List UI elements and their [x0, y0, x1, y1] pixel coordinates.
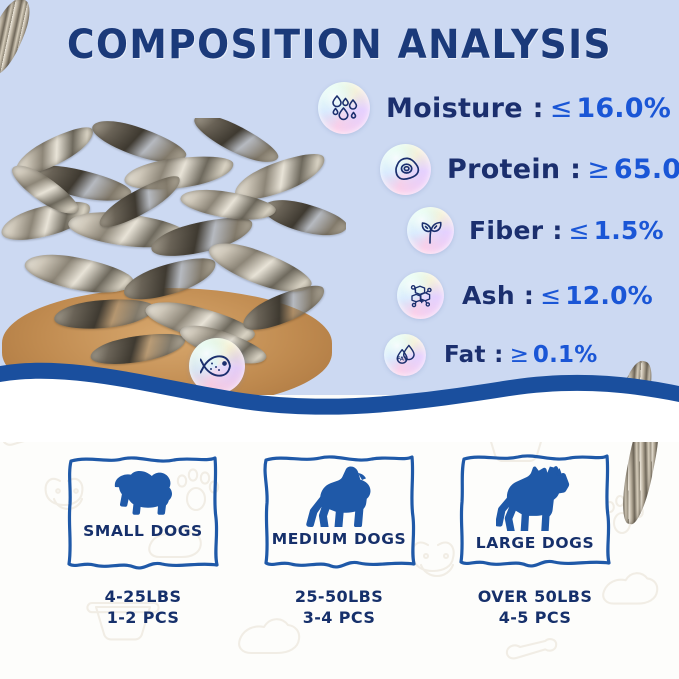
spec-operator-ash: ≤ [540, 281, 561, 310]
feeding-card-medium[interactable]: MEDIUM DOGS 25-50LBS 3-4 PCS [249, 452, 429, 628]
fish-icon [200, 351, 234, 381]
protein-egg-icon-bubble [380, 144, 431, 195]
card-title-medium: MEDIUM DOGS [272, 530, 407, 548]
infographic-root: COMPOSITION ANALYSIS Moist [0, 0, 679, 679]
spec-value-moisture: 16.0% [576, 93, 671, 124]
feeding-card-small[interactable]: SMALL DOGS 4-25LBS 1-2 PCS [53, 452, 233, 628]
water-drops-icon-bubble [318, 82, 370, 134]
page-title: COMPOSITION ANALYSIS [20, 22, 658, 68]
medium-dog-icon [302, 465, 376, 527]
card-weight-small: 4-25LBS [53, 586, 233, 607]
spec-row-moisture: Moisture : ≤ 16.0% [318, 82, 671, 134]
card-content-medium: MEDIUM DOGS [260, 452, 418, 572]
card-weight-medium: 25-50LBS [249, 586, 429, 607]
spec-row-ash: Ash : ≤ 12.0% [397, 272, 653, 319]
spec-value-ash: 12.0% [565, 281, 653, 310]
fat-drop-icon: FAT [393, 343, 418, 368]
card-amounts-medium: 25-50LBS 3-4 PCS [249, 586, 429, 628]
feeding-guide: SMALL DOGS 4-25LBS 1-2 PCS MEDIUM D [0, 452, 679, 667]
spec-row-protein: Protein : ≥ 65.0% [380, 144, 679, 195]
feeding-card-large[interactable]: LARGE DOGS OVER 50LBS 4-5 PCS [445, 452, 625, 628]
spec-label-ash: Ash : [462, 281, 534, 310]
card-pieces-small: 1-2 PCS [53, 607, 233, 628]
card-title-small: SMALL DOGS [83, 522, 203, 540]
spec-label-fiber: Fiber : [469, 216, 563, 245]
molecule-ash-icon [407, 282, 435, 310]
spec-operator-moisture: ≤ [550, 93, 573, 124]
spec-value-protein: 65.0% [614, 154, 679, 185]
spec-label-moisture: Moisture : [386, 93, 544, 124]
card-pieces-large: 4-5 PCS [445, 607, 625, 628]
leaf-fiber-icon-bubble [407, 207, 454, 254]
leaf-fiber-icon [417, 217, 445, 245]
large-dog-icon [496, 465, 574, 531]
spec-operator-fiber: ≤ [569, 216, 590, 245]
card-content-large: LARGE DOGS [456, 452, 614, 572]
spec-label-protein: Protein : [447, 154, 581, 185]
card-amounts-small: 4-25LBS 1-2 PCS [53, 586, 233, 628]
spec-value-fiber: 1.5% [594, 216, 664, 245]
protein-egg-icon [391, 156, 421, 184]
card-frame-medium: MEDIUM DOGS [260, 452, 418, 572]
card-frame-small: SMALL DOGS [64, 452, 222, 572]
small-dog-icon [107, 465, 179, 519]
card-pieces-medium: 3-4 PCS [249, 607, 429, 628]
molecule-ash-icon-bubble [397, 272, 444, 319]
svg-text:FAT: FAT [396, 356, 407, 362]
card-weight-large: OVER 50LBS [445, 586, 625, 607]
card-content-small: SMALL DOGS [64, 452, 222, 572]
water-drops-icon [329, 93, 359, 123]
card-title-large: LARGE DOGS [476, 534, 594, 552]
spec-row-fiber: Fiber : ≤ 1.5% [407, 207, 664, 254]
composition-list: Moisture : ≤ 16.0% Protein : ≥ 65.0% [300, 82, 679, 392]
wave-divider [0, 352, 679, 442]
card-frame-large: LARGE DOGS [456, 452, 614, 572]
spec-operator-protein: ≥ [587, 154, 610, 185]
card-amounts-large: OVER 50LBS 4-5 PCS [445, 586, 625, 628]
